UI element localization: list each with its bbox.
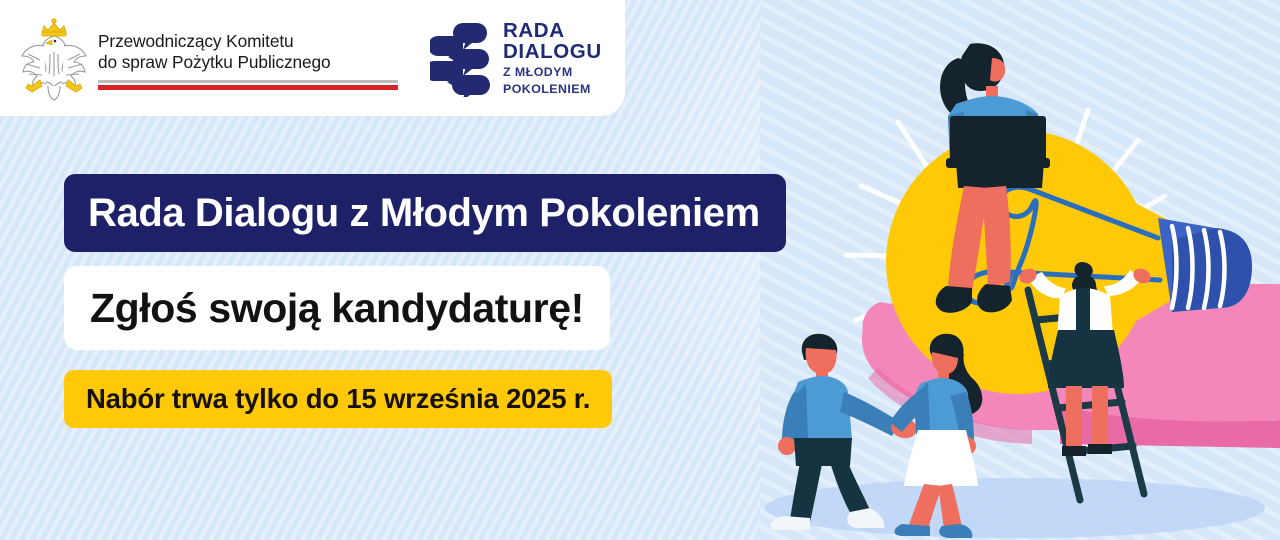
header-logo-bar: Przewodniczący Komitetu do spraw Pożytku… xyxy=(0,0,625,116)
ministry-line-2: do spraw Pożytku Publicznego xyxy=(98,52,398,73)
speech-bubble-plant-icon xyxy=(430,19,492,97)
banner-cta-pill: Zgłoś swoją kandydaturę! xyxy=(64,266,610,350)
campaign-banner: Przewodniczący Komitetu do spraw Pożytku… xyxy=(0,0,1280,540)
banner-deadline-text: Nabór trwa tylko do 15 września 2025 r. xyxy=(86,383,590,415)
banner-deadline-pill: Nabór trwa tylko do 15 września 2025 r. xyxy=(64,370,612,428)
rada-dialogu-wordmark: RADA DIALOGU Z MŁODYM POKOLENIEM xyxy=(503,20,602,97)
hand-holding-lightbulb-with-people-illustration xyxy=(760,0,1280,540)
logo-line-rada: RADA xyxy=(503,20,602,42)
polish-eagle-emblem-icon xyxy=(12,14,96,102)
flag-bar-red xyxy=(98,85,398,90)
ministry-title-block: Przewodniczący Komitetu do spraw Pożytku… xyxy=(98,27,398,90)
logo-line-pokoleniem: POKOLENIEM xyxy=(503,82,602,97)
polish-flag-rule xyxy=(98,80,398,90)
banner-title-pill: Rada Dialogu z Młodym Pokoleniem xyxy=(64,174,786,252)
ministry-line-1: Przewodniczący Komitetu xyxy=(98,31,398,52)
banner-cta-text: Zgłoś swoją kandydaturę! xyxy=(90,285,584,332)
banner-title: Rada Dialogu z Młodym Pokoleniem xyxy=(88,191,760,236)
logo-line-dialogu: DIALOGU xyxy=(503,41,602,63)
rada-dialogu-logo: RADA DIALOGU Z MŁODYM POKOLENIEM xyxy=(430,19,602,97)
logo-line-z-mlodym: Z MŁODYM xyxy=(503,65,602,80)
flag-bar-white xyxy=(98,80,398,83)
